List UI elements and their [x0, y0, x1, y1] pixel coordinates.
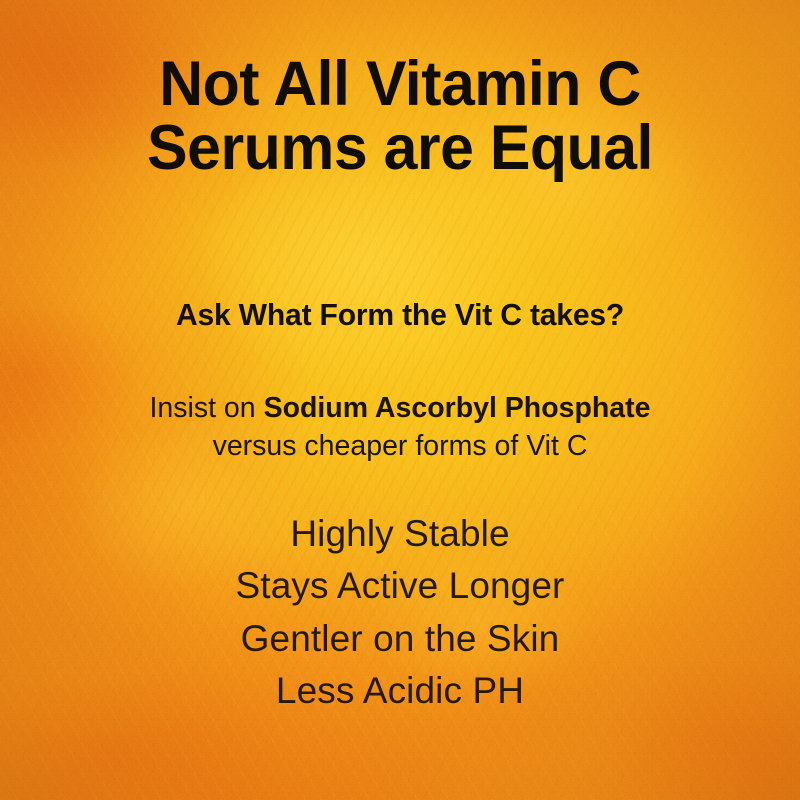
benefits-list: Highly Stable Stays Active Longer Gentle… [40, 508, 760, 718]
benefit-item-1: Highly Stable [40, 508, 760, 561]
poster-canvas: Not All Vitamin C Serums are Equal Ask W… [0, 0, 800, 800]
benefit-item-3: Gentler on the Skin [40, 613, 760, 666]
body-copy: Insist on Sodium Ascorbyl Phosphate vers… [40, 390, 760, 465]
headline: Not All Vitamin C Serums are Equal [53, 52, 748, 181]
subheadline: Ask What Form the Vit C takes? [61, 297, 740, 333]
benefit-item-2: Stays Active Longer [40, 560, 760, 613]
body-line-1: Insist on Sodium Ascorbyl Phosphate [40, 390, 760, 428]
headline-line-2: Serums are Equal [53, 116, 748, 180]
headline-line-1: Not All Vitamin C [53, 52, 748, 116]
body-line-1-emphasis: Sodium Ascorbyl Phosphate [264, 392, 651, 424]
benefit-item-4: Less Acidic PH [40, 665, 760, 718]
poster-content: Not All Vitamin C Serums are Equal Ask W… [0, 0, 800, 800]
body-line-1-prefix: Insist on [150, 392, 264, 424]
body-line-2: versus cheaper forms of Vit C [40, 428, 760, 466]
